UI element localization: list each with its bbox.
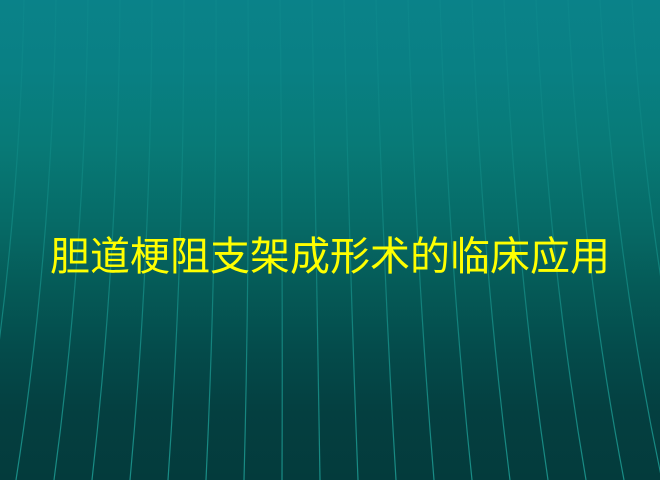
latitude-lines <box>0 2 660 437</box>
presentation-slide: 胆道梗阻支架成形术的临床应用 <box>0 0 660 480</box>
title-placeholder: 胆道梗阻支架成形术的临床应用 <box>0 232 660 282</box>
page-title: 胆道梗阻支架成形术的临床应用 <box>50 232 610 282</box>
